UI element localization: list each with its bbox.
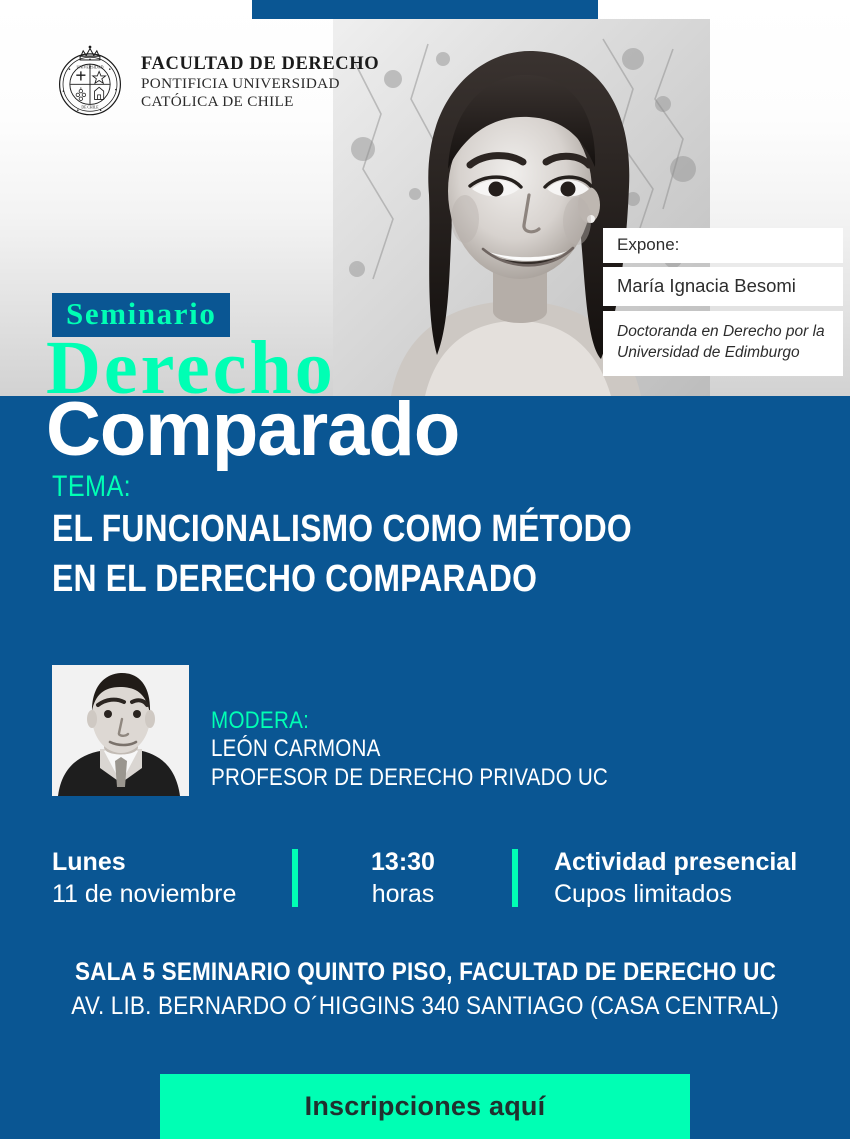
moderator-label: MODERA: — [211, 707, 608, 735]
logo-university-1: PONTIFICIA UNIVERSIDAD — [141, 75, 379, 93]
divider-2 — [512, 849, 518, 907]
detail-time-value: 13:30 — [334, 846, 512, 878]
logo-faculty: FACULTAD DE DERECHO — [141, 54, 379, 75]
topic-label: TEMA: — [52, 470, 690, 504]
venue-address: AV. LIB. BERNARDO O´HIGGINS 340 SANTIAGO… — [71, 992, 779, 1021]
venue-room: SALA 5 SEMINARIO QUINTO PISO, FACULTAD D… — [74, 958, 775, 987]
moderator-block: MODERA: LEÓN CARMONA PROFESOR DE DERECHO… — [52, 665, 673, 796]
detail-capacity: Cupos limitados — [554, 878, 812, 910]
event-details-strip: Lunes 11 de noviembre 13:30 horas Activi… — [52, 846, 812, 910]
moderator-role: PROFESOR DE DERECHO PRIVADO UC — [211, 764, 608, 793]
speaker-credential: Doctoranda en Derecho por la Universidad… — [603, 311, 843, 376]
uc-seal-icon: UNIVERSIDAD DE CHILE — [52, 44, 128, 120]
detail-modality-value: Actividad presencial — [554, 846, 812, 878]
detail-date-full: 11 de noviembre — [52, 878, 292, 910]
detail-time: 13:30 horas — [334, 846, 512, 910]
divider-1 — [292, 849, 298, 907]
venue-block: SALA 5 SEMINARIO QUINTO PISO, FACULTAD D… — [0, 958, 850, 1021]
moderator-photo — [52, 665, 189, 796]
topic-line-1: EL FUNCIONALISMO COMO MÉTODO — [52, 504, 690, 554]
topic-block: TEMA: EL FUNCIONALISMO COMO MÉTODO EN EL… — [52, 470, 812, 604]
detail-day: Lunes — [52, 846, 292, 878]
svg-text:DE CHILE: DE CHILE — [81, 106, 99, 110]
speaker-card: Expone: María Ignacia Besomi Doctoranda … — [603, 228, 843, 376]
logo-university-2: CATÓLICA DE CHILE — [141, 93, 379, 111]
detail-modality: Actividad presencial Cupos limitados — [554, 846, 812, 910]
uc-logo: UNIVERSIDAD DE CHILE FACULTAD DE DERECHO… — [52, 44, 379, 120]
title-word-comparado: Comparado — [46, 392, 459, 468]
speaker-name: María Ignacia Besomi — [603, 267, 843, 306]
svg-text:UNIVERSIDAD: UNIVERSIDAD — [77, 64, 104, 69]
register-button[interactable]: Inscripciones aquí — [160, 1074, 690, 1139]
top-accent-bar — [252, 0, 598, 19]
speaker-label: Expone: — [603, 228, 843, 263]
detail-date: Lunes 11 de noviembre — [52, 846, 292, 910]
topic-line-2: EN EL DERECHO COMPARADO — [52, 554, 690, 604]
detail-time-unit: horas — [334, 878, 512, 910]
moderator-name: LEÓN CARMONA — [211, 735, 608, 764]
